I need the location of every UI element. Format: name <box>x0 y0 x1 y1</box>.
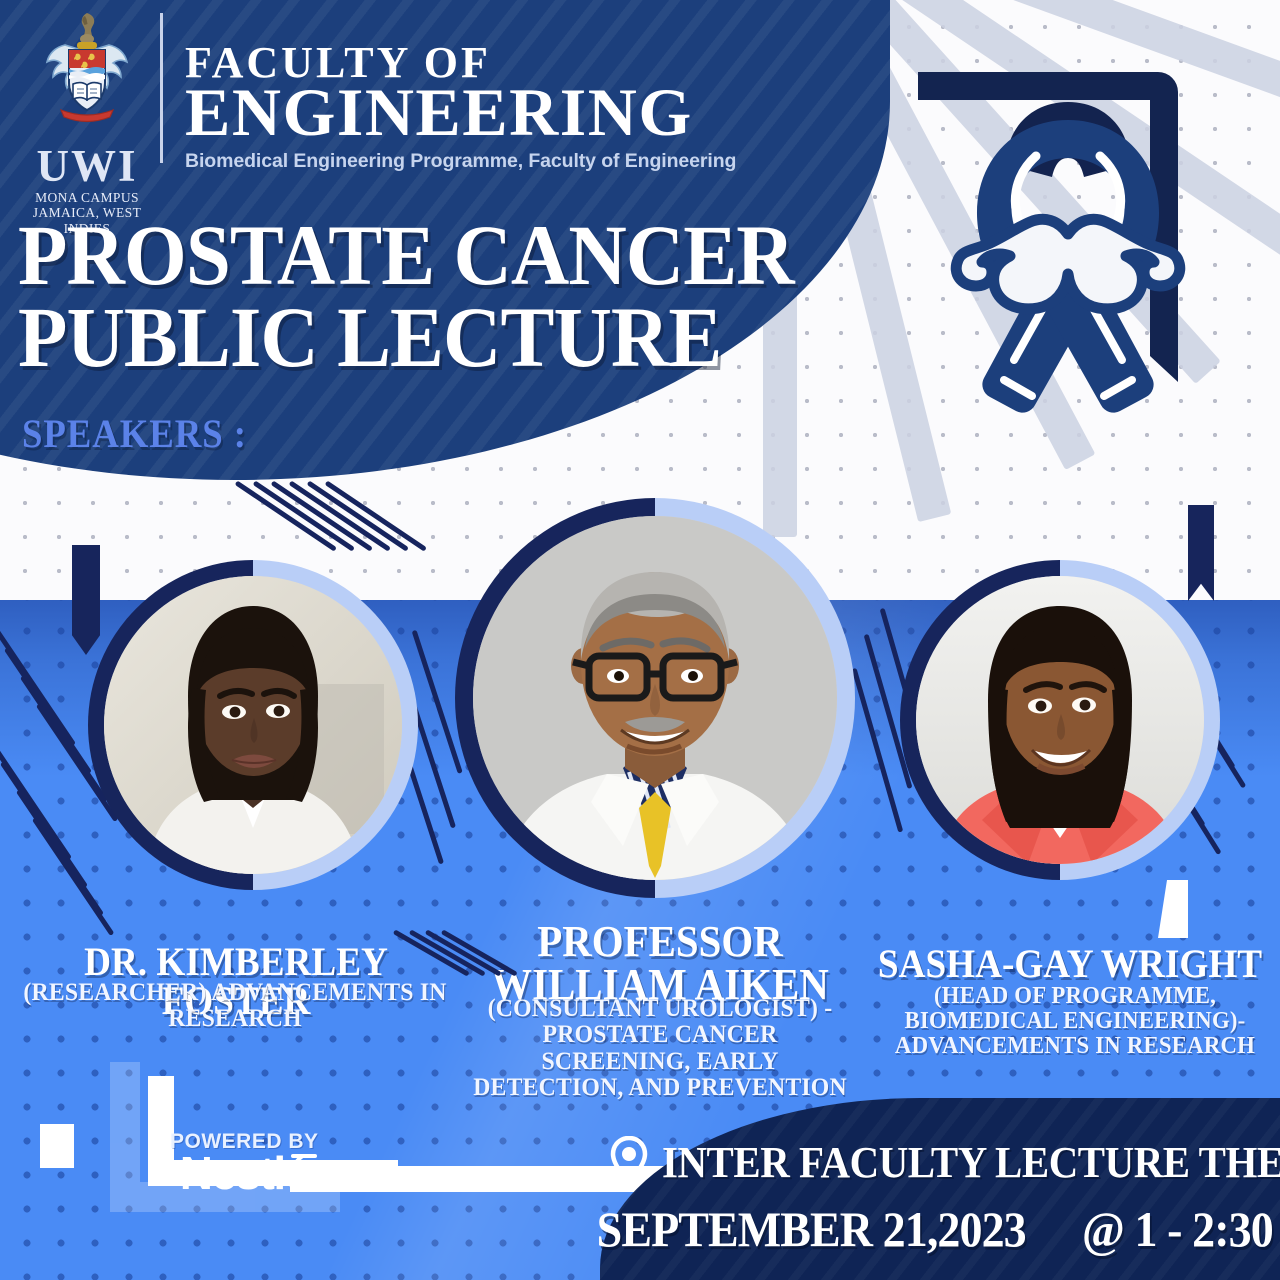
speaker-card-3 <box>900 560 1220 880</box>
speaker-card-1 <box>88 560 418 890</box>
sponsor-name: Nestlé <box>170 1150 319 1196</box>
date-time-row: SEPTEMBER 21,2023 @ 1 - 2:30 P.M <box>578 1200 1280 1258</box>
speaker-photo-william-aiken <box>473 516 837 880</box>
speaker-photo-sasha-gay-wright <box>916 576 1204 864</box>
venue-name: INTER FACULTY LECTURE THEATRE <box>662 1137 1280 1188</box>
map-pin-icon <box>610 1136 648 1189</box>
nestle-logo-icon: POWERED BY Nestlé <box>170 1130 319 1196</box>
event-date: SEPTEMBER 21,2023 <box>597 1200 1026 1258</box>
event-time: @ 1 - 2:30 P.M <box>1082 1200 1280 1258</box>
speakers-gallery <box>0 0 1280 1280</box>
speaker-photo-kimberley-foster <box>104 576 402 874</box>
poster-canvas: UWI MONA CAMPUS JAMAICA, WEST INDIES FAC… <box>0 0 1280 1280</box>
venue-row: INTER FACULTY LECTURE THEATRE <box>610 1136 1280 1189</box>
speaker-card-2 <box>455 498 855 898</box>
